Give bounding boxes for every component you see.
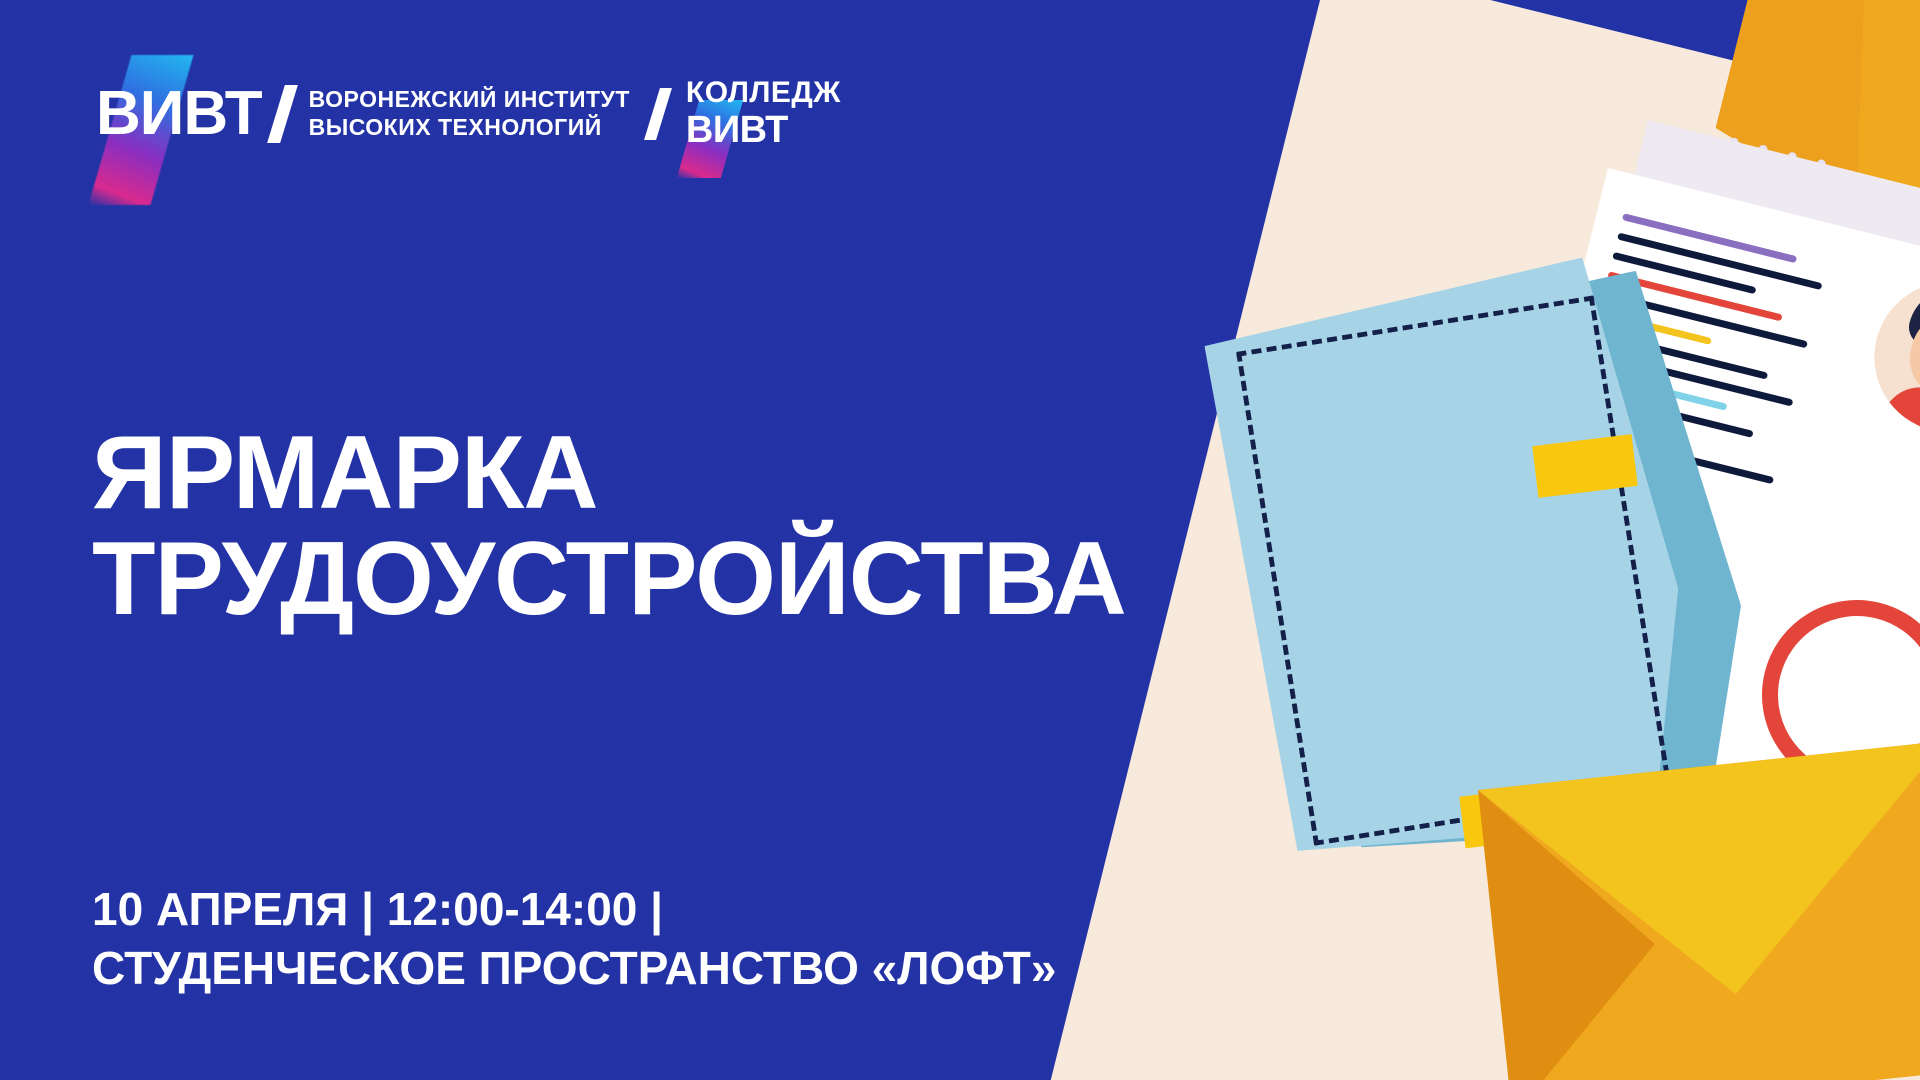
resume-line: [1617, 233, 1822, 291]
resume-line: [1583, 368, 1727, 410]
page-title: ЯРМАРКА ТРУДОУСТРОЙСТВА: [92, 420, 1126, 632]
institute-name-line1: ВОРОНЕЖСКИЙ ИНСТИТУТ: [309, 86, 630, 113]
resume-line: [1622, 213, 1797, 263]
avatar-circle: [1858, 266, 1920, 448]
institute-name-line2: ВЫСОКИХ ТЕХНОЛОГИЙ: [309, 114, 630, 141]
institute-name: ВОРОНЕЖСКИЙ ИНСТИТУТ ВЫСОКИХ ТЕХНОЛОГИЙ: [309, 86, 630, 140]
dot: [1758, 144, 1769, 155]
dot: [1750, 173, 1761, 184]
dot: [1714, 195, 1725, 206]
event-datetime: 10 АПРЕЛЯ | 12:00-14:00 |: [92, 880, 1056, 939]
dot: [1721, 166, 1732, 177]
yellow-tape: [1532, 434, 1638, 498]
avatar-body: [1874, 379, 1920, 448]
headline-line-1: ЯРМАРКА: [92, 415, 597, 531]
cream-backdrop-panel: [1025, 0, 1920, 1080]
blue-envelope: [1200, 251, 1714, 881]
college-label: КОЛЛЕДЖ: [686, 78, 841, 108]
cream-backdrop-panel-2: [1395, 746, 1920, 1080]
resume-line: [1588, 349, 1793, 407]
orange-envelope: [1478, 741, 1920, 1080]
resume-line: [1578, 388, 1753, 438]
dot: [1809, 188, 1820, 199]
magnifying-glass-icon: [1742, 580, 1920, 810]
college-logo[interactable]: КОЛЛЕДЖ ВИВТ: [686, 78, 841, 149]
headline-line-2: ТРУДОУСТРОЙСТВА: [92, 526, 1126, 632]
dot: [1787, 151, 1798, 162]
avatar-face: [1902, 306, 1920, 406]
avatar: [1858, 266, 1920, 448]
avatar-hair: [1905, 279, 1920, 364]
event-details: 10 АПРЕЛЯ | 12:00-14:00 | СТУДЕНЧЕСКОЕ П…: [92, 880, 1056, 998]
dot: [1816, 159, 1827, 170]
orange-envelope-side: [1478, 741, 1920, 1080]
resume-line: [1612, 252, 1756, 294]
dot: [1779, 180, 1790, 191]
resume-line: [1598, 310, 1712, 345]
logo-bar[interactable]: ВИВТ ВОРОНЕЖСКИЙ ИНСТИТУТ ВЫСОКИХ ТЕХНОЛ…: [96, 78, 841, 149]
resume-sheet-back: [1493, 120, 1920, 845]
college-vivt-wordmark: ВИВТ: [686, 111, 841, 149]
vivt-wordmark: ВИВТ: [96, 83, 262, 145]
slash-separator-icon: [267, 85, 298, 143]
blue-envelope-stitching: [1236, 295, 1672, 845]
slash-separator-icon-2: [644, 88, 672, 140]
magnifier-ring: [1742, 580, 1920, 810]
vivt-logo[interactable]: ВИВТ: [96, 83, 262, 145]
magnifier-handle: [1708, 764, 1803, 867]
blue-envelope-shadow: [1262, 263, 1774, 883]
dot: [1772, 210, 1783, 221]
orange-wedge-shape-2: [1825, 0, 1920, 254]
yellow-tape: [1459, 784, 1573, 849]
event-venue: СТУДЕНЧЕСКОЕ ПРОСТРАНСТВО «ЛОФТ»: [92, 939, 1056, 998]
promo-banner: ВИВТ ВОРОНЕЖСКИЙ ИНСТИТУТ ВЫСОКИХ ТЕХНОЛ…: [0, 0, 1920, 1080]
dot: [1743, 202, 1754, 213]
resume-line: [1569, 427, 1774, 485]
resume-line: [1603, 291, 1808, 349]
resume-line: [1573, 407, 1687, 442]
dot: [1728, 137, 1739, 148]
orange-envelope-flap: [1478, 741, 1920, 1019]
resume-line: [1593, 330, 1768, 380]
resume-text-lines: [1565, 213, 1827, 497]
resume-line: [1607, 271, 1782, 321]
dot: [1801, 217, 1812, 228]
orange-wedge-shape: [1696, 0, 1920, 285]
resume-sheet: [1458, 168, 1920, 883]
dot-grid-icon: [1709, 137, 1847, 253]
